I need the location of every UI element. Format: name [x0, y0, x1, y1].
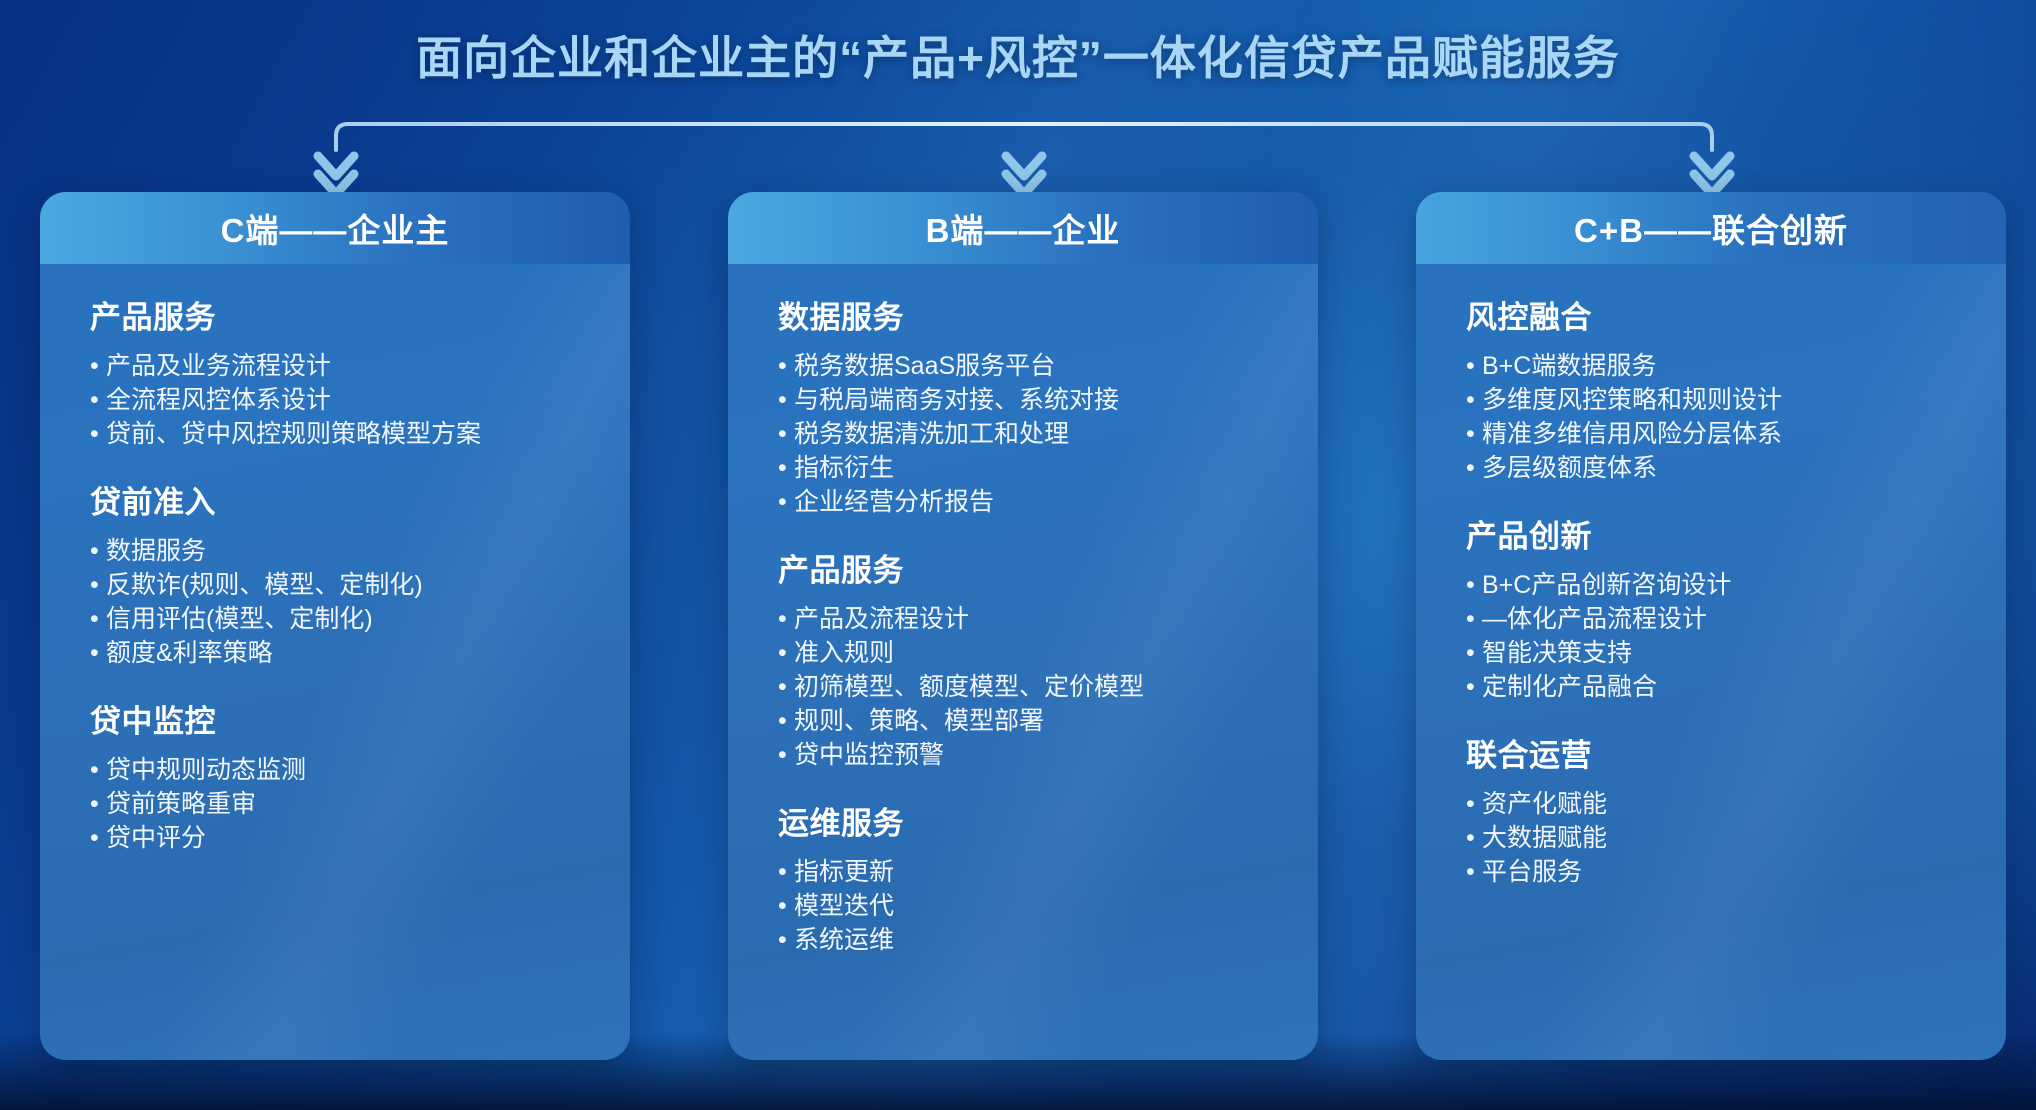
card-header-c-plus-b: C+B——联合创新 — [1416, 192, 2006, 264]
list-item: 指标衍生 — [778, 451, 1318, 485]
list-item: 反欺诈(规则、模型、定制化) — [90, 568, 630, 602]
group-block: 产品创新 B+C产品创新咨询设计 —体化产品流程设计 智能决策支持 定制化产品融… — [1466, 511, 2006, 704]
list-item: 信用评估(模型、定制化) — [90, 602, 630, 636]
infographic-canvas: 面向企业和企业主的“产品+风控”一体化信贷产品赋能服务 — [0, 0, 2036, 1110]
group-title: 产品服务 — [90, 292, 630, 337]
list-item: 全流程风控体系设计 — [90, 383, 630, 417]
bullet-list: 税务数据SaaS服务平台 与税局端商务对接、系统对接 税务数据清洗加工和处理 指… — [778, 349, 1318, 519]
group-block: 贷前准入 数据服务 反欺诈(规则、模型、定制化) 信用评估(模型、定制化) 额度… — [90, 477, 630, 670]
double-chevron-down-icon — [318, 156, 354, 194]
bullet-list: 资产化赋能 大数据赋能 平台服务 — [1466, 787, 2006, 889]
connector-horizontal-line — [336, 124, 1712, 150]
list-item: 准入规则 — [778, 636, 1318, 670]
card-header-b-end: B端——企业 — [728, 192, 1318, 264]
bullet-list: 数据服务 反欺诈(规则、模型、定制化) 信用评估(模型、定制化) 额度&利率策略 — [90, 534, 630, 670]
list-item: 贷中评分 — [90, 821, 630, 855]
list-item: 定制化产品融合 — [1466, 670, 2006, 704]
list-item: 多层级额度体系 — [1466, 451, 2006, 485]
list-item: —体化产品流程设计 — [1466, 602, 2006, 636]
list-item: 税务数据清洗加工和处理 — [778, 417, 1318, 451]
bullet-list: B+C端数据服务 多维度风控策略和规则设计 精准多维信用风险分层体系 多层级额度… — [1466, 349, 2006, 485]
list-item: 模型迭代 — [778, 889, 1318, 923]
group-title: 产品创新 — [1466, 511, 2006, 556]
list-item: B+C端数据服务 — [1466, 349, 2006, 383]
group-block: 贷中监控 贷中规则动态监测 贷前策略重审 贷中评分 — [90, 696, 630, 855]
card-header-c-end: C端——企业主 — [40, 192, 630, 264]
group-title: 产品服务 — [778, 545, 1318, 590]
bullet-list: 指标更新 模型迭代 系统运维 — [778, 855, 1318, 957]
card-c-plus-b[interactable]: C+B——联合创新 风控融合 B+C端数据服务 多维度风控策略和规则设计 精准多… — [1416, 192, 2006, 1060]
bullet-list: 贷中规则动态监测 贷前策略重审 贷中评分 — [90, 753, 630, 855]
group-block: 产品服务 产品及流程设计 准入规则 初筛模型、额度模型、定价模型 规则、策略、模… — [778, 545, 1318, 772]
list-item: 初筛模型、额度模型、定价模型 — [778, 670, 1318, 704]
list-item: 资产化赋能 — [1466, 787, 2006, 821]
list-item: 数据服务 — [90, 534, 630, 568]
group-block: 风控融合 B+C端数据服务 多维度风控策略和规则设计 精准多维信用风险分层体系 … — [1466, 292, 2006, 485]
page-title: 面向企业和企业主的“产品+风控”一体化信贷产品赋能服务 — [0, 22, 2036, 88]
group-title: 贷中监控 — [90, 696, 630, 741]
card-body-b-end: 数据服务 税务数据SaaS服务平台 与税局端商务对接、系统对接 税务数据清洗加工… — [728, 264, 1318, 957]
list-item: 产品及流程设计 — [778, 602, 1318, 636]
list-item: 与税局端商务对接、系统对接 — [778, 383, 1318, 417]
card-body-c-end: 产品服务 产品及业务流程设计 全流程风控体系设计 贷前、贷中风控规则策略模型方案… — [40, 264, 630, 855]
group-block: 产品服务 产品及业务流程设计 全流程风控体系设计 贷前、贷中风控规则策略模型方案 — [90, 292, 630, 451]
list-item: B+C产品创新咨询设计 — [1466, 568, 2006, 602]
group-block: 运维服务 指标更新 模型迭代 系统运维 — [778, 798, 1318, 957]
list-item: 多维度风控策略和规则设计 — [1466, 383, 2006, 417]
group-block: 联合运营 资产化赋能 大数据赋能 平台服务 — [1466, 730, 2006, 889]
list-item: 贷前、贷中风控规则策略模型方案 — [90, 417, 630, 451]
cards-container: C端——企业主 产品服务 产品及业务流程设计 全流程风控体系设计 贷前、贷中风控… — [0, 192, 2036, 1072]
list-item: 智能决策支持 — [1466, 636, 2006, 670]
group-title: 运维服务 — [778, 798, 1318, 843]
double-chevron-down-icon — [1006, 156, 1042, 194]
list-item: 贷中监控预警 — [778, 738, 1318, 772]
list-item: 贷前策略重审 — [90, 787, 630, 821]
list-item: 系统运维 — [778, 923, 1318, 957]
group-title: 数据服务 — [778, 292, 1318, 337]
list-item: 指标更新 — [778, 855, 1318, 889]
bullet-list: 产品及业务流程设计 全流程风控体系设计 贷前、贷中风控规则策略模型方案 — [90, 349, 630, 451]
list-item: 企业经营分析报告 — [778, 485, 1318, 519]
bullet-list: B+C产品创新咨询设计 —体化产品流程设计 智能决策支持 定制化产品融合 — [1466, 568, 2006, 704]
double-chevron-down-icon — [1694, 156, 1730, 194]
group-title: 风控融合 — [1466, 292, 2006, 337]
group-block: 数据服务 税务数据SaaS服务平台 与税局端商务对接、系统对接 税务数据清洗加工… — [778, 292, 1318, 519]
card-body-c-plus-b: 风控融合 B+C端数据服务 多维度风控策略和规则设计 精准多维信用风险分层体系 … — [1416, 264, 2006, 889]
list-item: 规则、策略、模型部署 — [778, 704, 1318, 738]
list-item: 税务数据SaaS服务平台 — [778, 349, 1318, 383]
list-item: 大数据赋能 — [1466, 821, 2006, 855]
list-item: 贷中规则动态监测 — [90, 753, 630, 787]
group-title: 贷前准入 — [90, 477, 630, 522]
list-item: 平台服务 — [1466, 855, 2006, 889]
card-c-end[interactable]: C端——企业主 产品服务 产品及业务流程设计 全流程风控体系设计 贷前、贷中风控… — [40, 192, 630, 1060]
list-item: 产品及业务流程设计 — [90, 349, 630, 383]
list-item: 精准多维信用风险分层体系 — [1466, 417, 2006, 451]
list-item: 额度&利率策略 — [90, 636, 630, 670]
group-title: 联合运营 — [1466, 730, 2006, 775]
card-b-end[interactable]: B端——企业 数据服务 税务数据SaaS服务平台 与税局端商务对接、系统对接 税… — [728, 192, 1318, 1060]
bullet-list: 产品及流程设计 准入规则 初筛模型、额度模型、定价模型 规则、策略、模型部署 贷… — [778, 602, 1318, 772]
